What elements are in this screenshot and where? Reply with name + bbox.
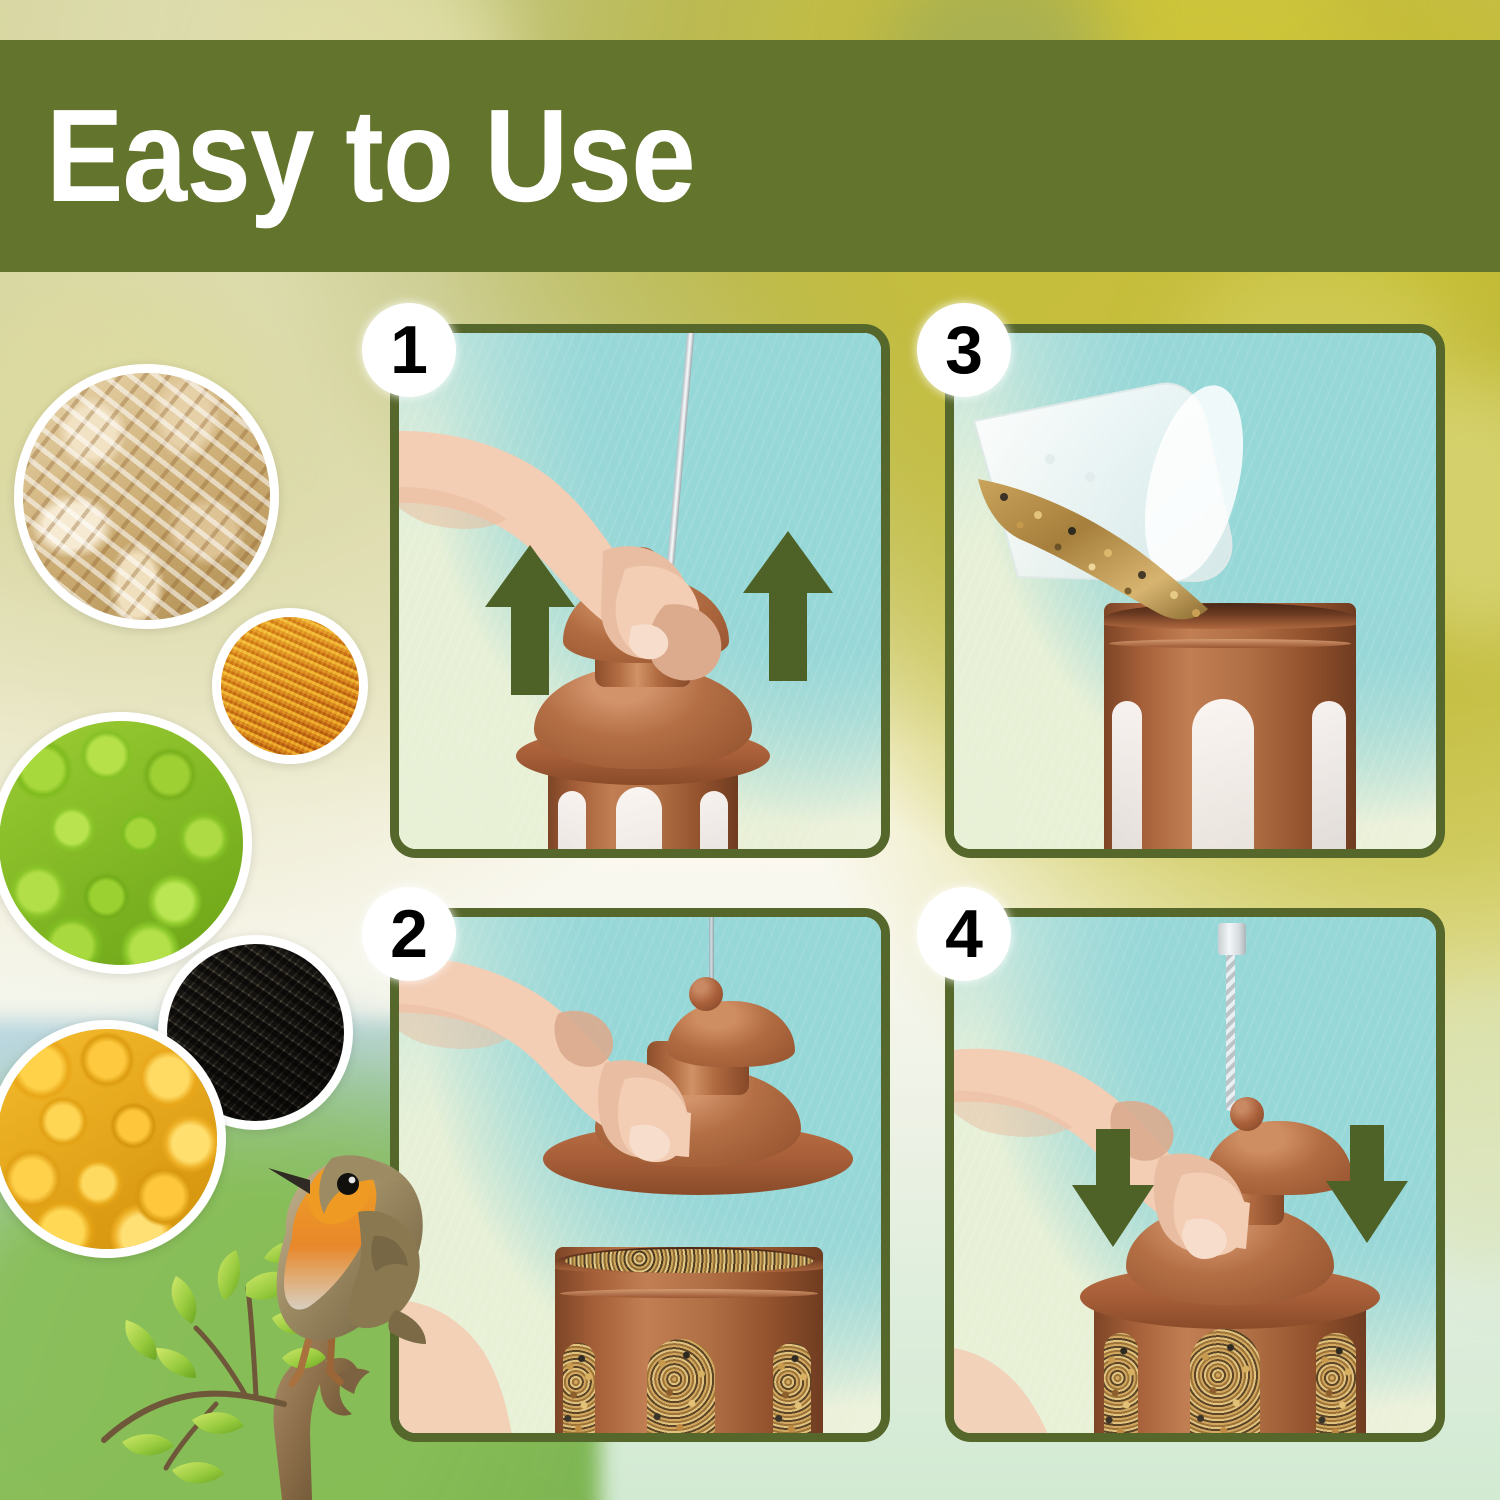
feeder-window-seeded (1104, 1333, 1138, 1433)
step-badge-4: 4 (917, 887, 1011, 981)
branch-twig (248, 1288, 256, 1396)
forearm (954, 1337, 1084, 1433)
feeder-window (1312, 701, 1346, 849)
step-panel-2 (390, 908, 890, 1442)
bird-eye (337, 1173, 359, 1195)
step-number: 3 (945, 316, 983, 384)
step-panel-3 (945, 324, 1445, 858)
step-number: 1 (390, 316, 428, 384)
step-panel-1 (390, 324, 890, 858)
arrow-up-right-icon (743, 531, 833, 681)
feeder-tube-filled (555, 1247, 823, 1433)
arrow-down-right-icon (1326, 1125, 1408, 1243)
arrow-down-left-icon (1072, 1129, 1154, 1247)
seed-circle-green-peas (0, 712, 252, 974)
seed-circle-corn-kernels (0, 1020, 226, 1258)
banner-fade-overlay (880, 40, 1500, 272)
step-4-scene (954, 917, 1436, 1433)
feeder-window-seeded (647, 1339, 715, 1433)
feeder-window (1192, 699, 1254, 849)
step-panel-4 (945, 908, 1445, 1442)
bird-tail (388, 1310, 426, 1344)
feeder-tube-ledge (560, 1289, 817, 1298)
step-number: 4 (945, 900, 983, 968)
feeder-window (616, 787, 662, 849)
feeder-window-seeded (1316, 1333, 1356, 1433)
step-badge-2: 2 (362, 887, 456, 981)
hand-removing-lid (399, 951, 743, 1201)
wire-clip (1218, 923, 1246, 955)
seed-circle-oat-flakes (14, 364, 279, 629)
step-1-scene (399, 333, 881, 849)
step-2-scene (399, 917, 881, 1433)
infographic-stage: Easy to Use (0, 0, 1500, 1500)
bird-beak (268, 1168, 310, 1194)
feeder-window-seeded (563, 1343, 595, 1433)
branch-twig (196, 1328, 246, 1396)
green-peas-texture (0, 721, 243, 965)
arrow-up-left-icon (485, 545, 575, 695)
step-badge-1: 1 (362, 303, 456, 397)
page-title: Easy to Use (46, 90, 695, 222)
seed-fill-surface (565, 1249, 813, 1273)
feeder-window-seeded (1190, 1329, 1260, 1433)
title-banner: Easy to Use (0, 40, 1500, 272)
step-number: 2 (390, 900, 428, 968)
feeder-window-seeded (773, 1343, 811, 1433)
corn-kernels-texture (0, 1029, 217, 1249)
feeder-window (700, 791, 728, 849)
branch-twig (104, 1394, 284, 1440)
seed-stream (960, 463, 1260, 643)
step-badge-3: 3 (917, 303, 1011, 397)
feeder-window (558, 791, 586, 849)
hand-lifting-lid (399, 419, 759, 709)
step-3-scene (954, 333, 1436, 849)
feeder-window (1112, 701, 1142, 849)
oat-flakes-texture (23, 373, 270, 620)
